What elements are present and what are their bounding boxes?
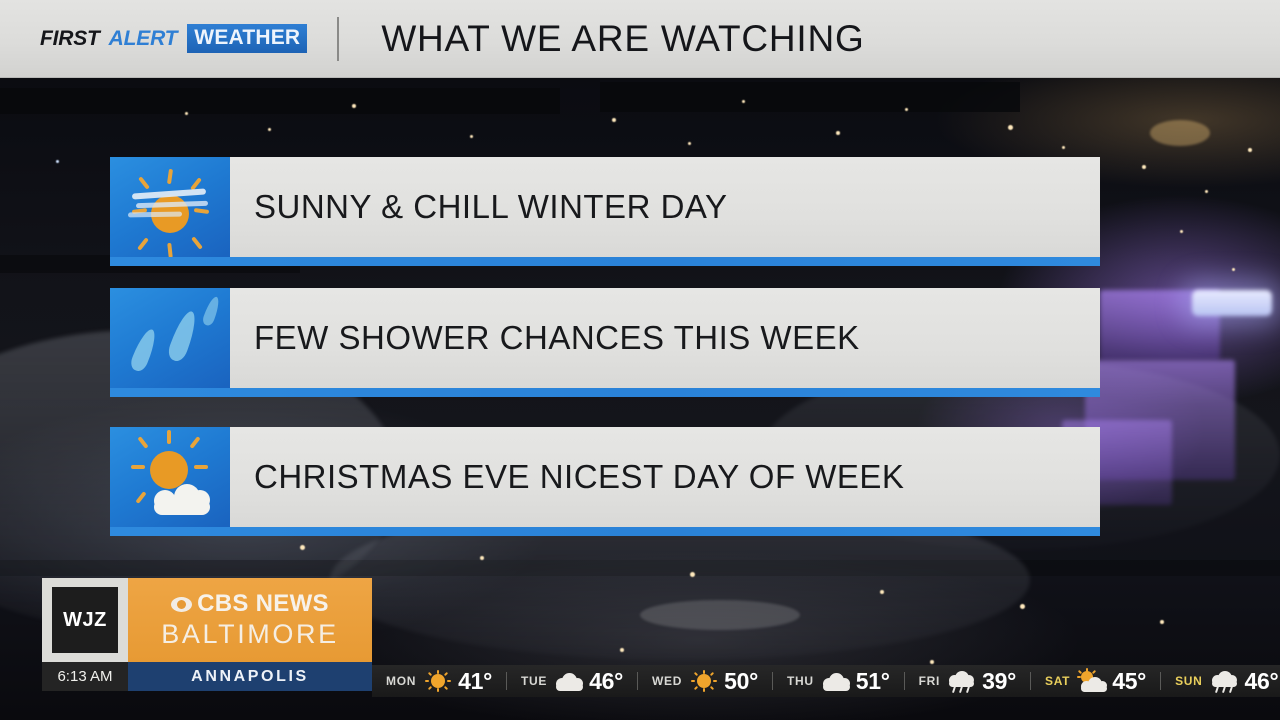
watch-item-2-body: FEW SHOWER CHANCES THIS WEEK	[230, 288, 1100, 388]
location-label: ANNAPOLIS	[128, 662, 372, 691]
forecast-day-mon-label: MON	[386, 674, 416, 688]
broadcast-screen: FIRST ALERT WEATHER WHAT WE ARE WATCHING…	[0, 0, 1280, 720]
watch-item-1[interactable]: SUNNY & CHILL WINTER DAY	[110, 157, 1100, 257]
watch-item-3[interactable]: CHRISTMAS EVE NICEST DAY OF WEEK	[110, 427, 1100, 527]
watch-item-1-underline	[110, 257, 1100, 266]
logo-word-first: FIRST	[40, 27, 100, 51]
rain-icon	[1210, 670, 1240, 692]
sun-cloud-icon	[1077, 670, 1107, 692]
page-title: WHAT WE ARE WATCHING	[381, 18, 864, 60]
forecast-day-mon-temp: 41°	[458, 668, 492, 695]
first-alert-weather-logo: FIRST ALERT WEATHER	[40, 24, 307, 53]
forecast-day-tue-temp: 46°	[589, 668, 623, 695]
watch-item-3-label: CHRISTMAS EVE NICEST DAY OF WEEK	[254, 458, 904, 496]
forecast-day-sat-label: SAT	[1045, 674, 1070, 688]
rain-drops-icon	[110, 288, 230, 388]
rain-icon	[947, 670, 977, 692]
network-line: CBS NEWS	[171, 590, 329, 618]
vertical-divider-icon	[337, 17, 339, 61]
sun-icon	[689, 670, 719, 692]
ticker-separator	[904, 672, 905, 690]
ticker-separator	[637, 672, 638, 690]
ticker-separator	[1030, 672, 1031, 690]
forecast-day-sun-label: SUN	[1175, 674, 1202, 688]
forecast-day-thu: THU 51°	[787, 668, 890, 695]
watch-item-1-body: SUNNY & CHILL WINTER DAY	[230, 157, 1100, 257]
forecast-day-tue-label: TUE	[521, 674, 547, 688]
callsign-panel: WJZ	[42, 578, 128, 662]
program-header-bar: FIRST ALERT WEATHER WHAT WE ARE WATCHING	[0, 0, 1280, 78]
forecast-day-sun: SUN 46°	[1175, 668, 1278, 695]
forecast-day-thu-temp: 51°	[856, 668, 890, 695]
network-label: CBS NEWS	[197, 590, 329, 618]
forecast-day-mon: MON 41°	[386, 668, 492, 695]
watch-item-3-body: CHRISTMAS EVE NICEST DAY OF WEEK	[230, 427, 1100, 527]
forecast-day-sat-temp: 45°	[1112, 668, 1146, 695]
forecast-day-thu-label: THU	[787, 674, 814, 688]
logo-word-alert: ALERT	[109, 27, 178, 51]
clock-label: 6:13 AM	[42, 662, 128, 691]
forecast-day-wed: WED 50°	[652, 668, 758, 695]
market-label: BALTIMORE	[161, 619, 338, 650]
cloud-icon	[821, 670, 851, 692]
station-bug: WJZ CBS NEWS BALTIMORE 6:13 AM ANNAPOLIS	[42, 578, 372, 691]
cloud-icon	[554, 670, 584, 692]
callsign-box: WJZ	[52, 587, 118, 653]
callsign-label: WJZ	[63, 609, 107, 632]
watch-item-2[interactable]: FEW SHOWER CHANCES THIS WEEK	[110, 288, 1100, 388]
station-bug-bottom: 6:13 AM ANNAPOLIS	[42, 662, 372, 691]
forecast-day-fri: FRI 39°	[919, 668, 1016, 695]
ticker-separator	[506, 672, 507, 690]
cbs-eye-icon	[171, 597, 192, 612]
watch-item-3-underline	[110, 527, 1100, 536]
logo-word-weather: WEATHER	[187, 24, 307, 53]
forecast-day-tue: TUE 46°	[521, 668, 623, 695]
watch-item-2-underline	[110, 388, 1100, 397]
station-bug-top: WJZ CBS NEWS BALTIMORE	[42, 578, 372, 662]
forecast-day-fri-label: FRI	[919, 674, 940, 688]
sun-icon	[423, 670, 453, 692]
sun-haze-icon	[110, 157, 230, 257]
watch-item-1-label: SUNNY & CHILL WINTER DAY	[254, 188, 727, 226]
sun-cloud-icon	[110, 427, 230, 527]
forecast-ticker: MON 41° TUE 46°	[372, 665, 1280, 697]
ticker-separator	[1160, 672, 1161, 690]
network-panel: CBS NEWS BALTIMORE	[128, 578, 372, 662]
forecast-day-sun-temp: 46°	[1245, 668, 1279, 695]
forecast-day-sat: SAT 45°	[1045, 668, 1146, 695]
watch-item-2-label: FEW SHOWER CHANCES THIS WEEK	[254, 319, 860, 357]
forecast-day-wed-temp: 50°	[724, 668, 758, 695]
forecast-day-fri-temp: 39°	[982, 668, 1016, 695]
ticker-separator	[772, 672, 773, 690]
forecast-day-wed-label: WED	[652, 674, 682, 688]
